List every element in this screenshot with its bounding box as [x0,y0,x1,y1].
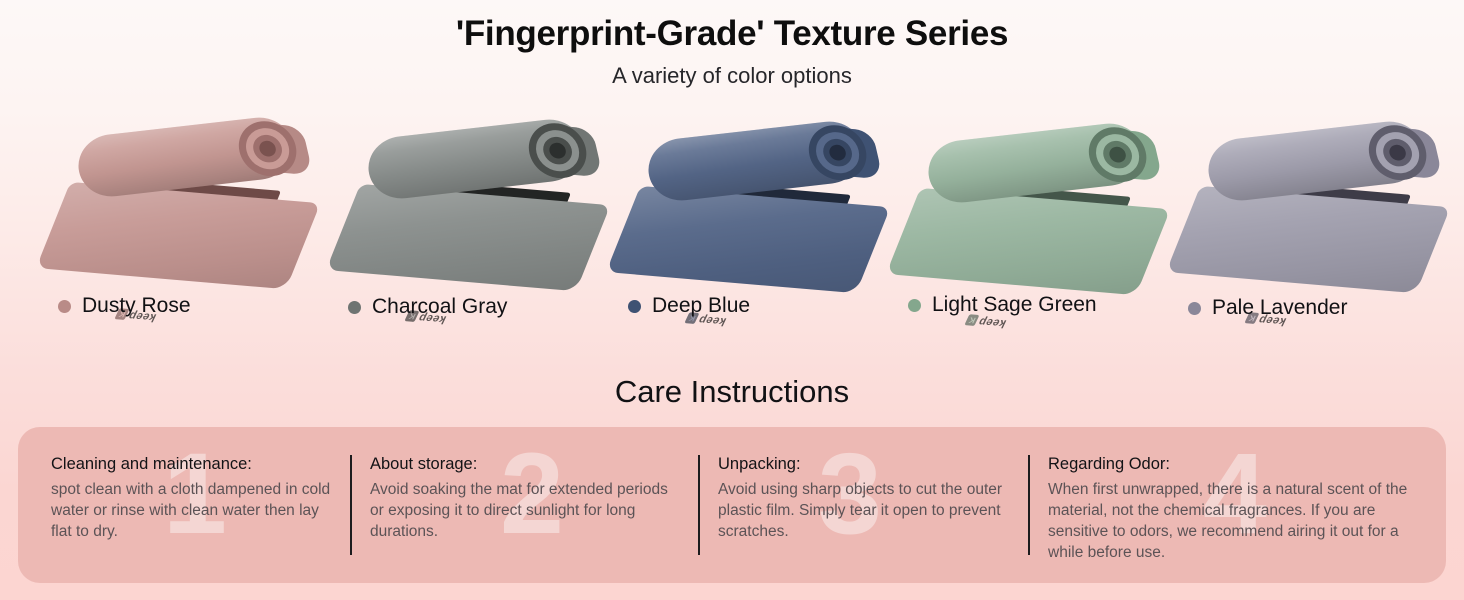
color-swatch-dot [628,300,641,313]
color-swatch-dot [348,301,361,314]
product-color-gallery: keepKDusty RosekeepKCharcoal GraykeepKDe… [0,112,1464,327]
care-item-body: Avoid soaking the mat for extended perio… [370,480,682,543]
yoga-mat-image: keepK [320,122,610,282]
mat-rolled-section [645,118,866,204]
mat-rolled-section [925,120,1146,206]
product-color-label: Pale Lavender [1188,296,1347,320]
color-swatch-dot [1188,302,1201,315]
care-item-body: When first unwrapped, there is a natural… [1048,480,1430,564]
product-swatch-card[interactable]: keepKDusty Rose [30,112,320,327]
product-swatch-card[interactable]: keepKPale Lavender [1160,112,1450,327]
care-instruction-item: 2About storage:Avoid soaking the mat for… [350,427,698,583]
care-item-title: Unpacking: [718,455,1012,474]
yoga-mat-image: keepK [600,124,890,284]
yoga-mat-image: keepK [880,126,1170,286]
mat-rolled-section [365,116,586,202]
mat-rolled-section [75,114,296,200]
product-color-label: Charcoal Gray [348,295,507,319]
yoga-mat-image: keepK [30,120,320,280]
page-title: 'Fingerprint-Grade' Texture Series [0,14,1464,54]
page-header: 'Fingerprint-Grade' Texture Series A var… [0,0,1464,89]
product-color-label: Light Sage Green [908,293,1097,317]
color-name: Deep Blue [652,294,750,318]
product-swatch-card[interactable]: keepKDeep Blue [600,112,890,327]
color-swatch-dot [908,299,921,312]
product-swatch-card[interactable]: keepKCharcoal Gray [320,112,610,327]
product-swatch-card[interactable]: keepKLight Sage Green [880,112,1170,327]
color-name: Dusty Rose [82,294,191,318]
color-swatch-dot [58,300,71,313]
color-name: Light Sage Green [932,293,1097,317]
care-item-body: spot clean with a cloth dampened in cold… [51,480,334,543]
care-instructions-card: 1Cleaning and maintenance:spot clean wit… [18,427,1446,583]
care-instruction-item: 3Unpacking:Avoid using sharp objects to … [698,427,1028,583]
care-item-title: Regarding Odor: [1048,455,1430,474]
page-subtitle: A variety of color options [0,63,1464,89]
care-item-title: Cleaning and maintenance: [51,455,334,474]
care-instruction-item: 1Cleaning and maintenance:spot clean wit… [18,427,350,583]
care-instructions-heading: Care Instructions [0,374,1464,410]
mat-rolled-section [1205,118,1426,204]
yoga-mat-image: keepK [1160,124,1450,284]
care-instruction-item: 4Regarding Odor:When first unwrapped, th… [1028,427,1446,583]
color-name: Charcoal Gray [372,295,507,319]
care-item-title: About storage: [370,455,682,474]
brand-logo-text: keep [976,315,1008,329]
product-color-label: Dusty Rose [58,294,191,318]
care-item-body: Avoid using sharp objects to cut the out… [718,480,1012,543]
product-color-label: Deep Blue [628,294,750,318]
color-name: Pale Lavender [1212,296,1347,320]
